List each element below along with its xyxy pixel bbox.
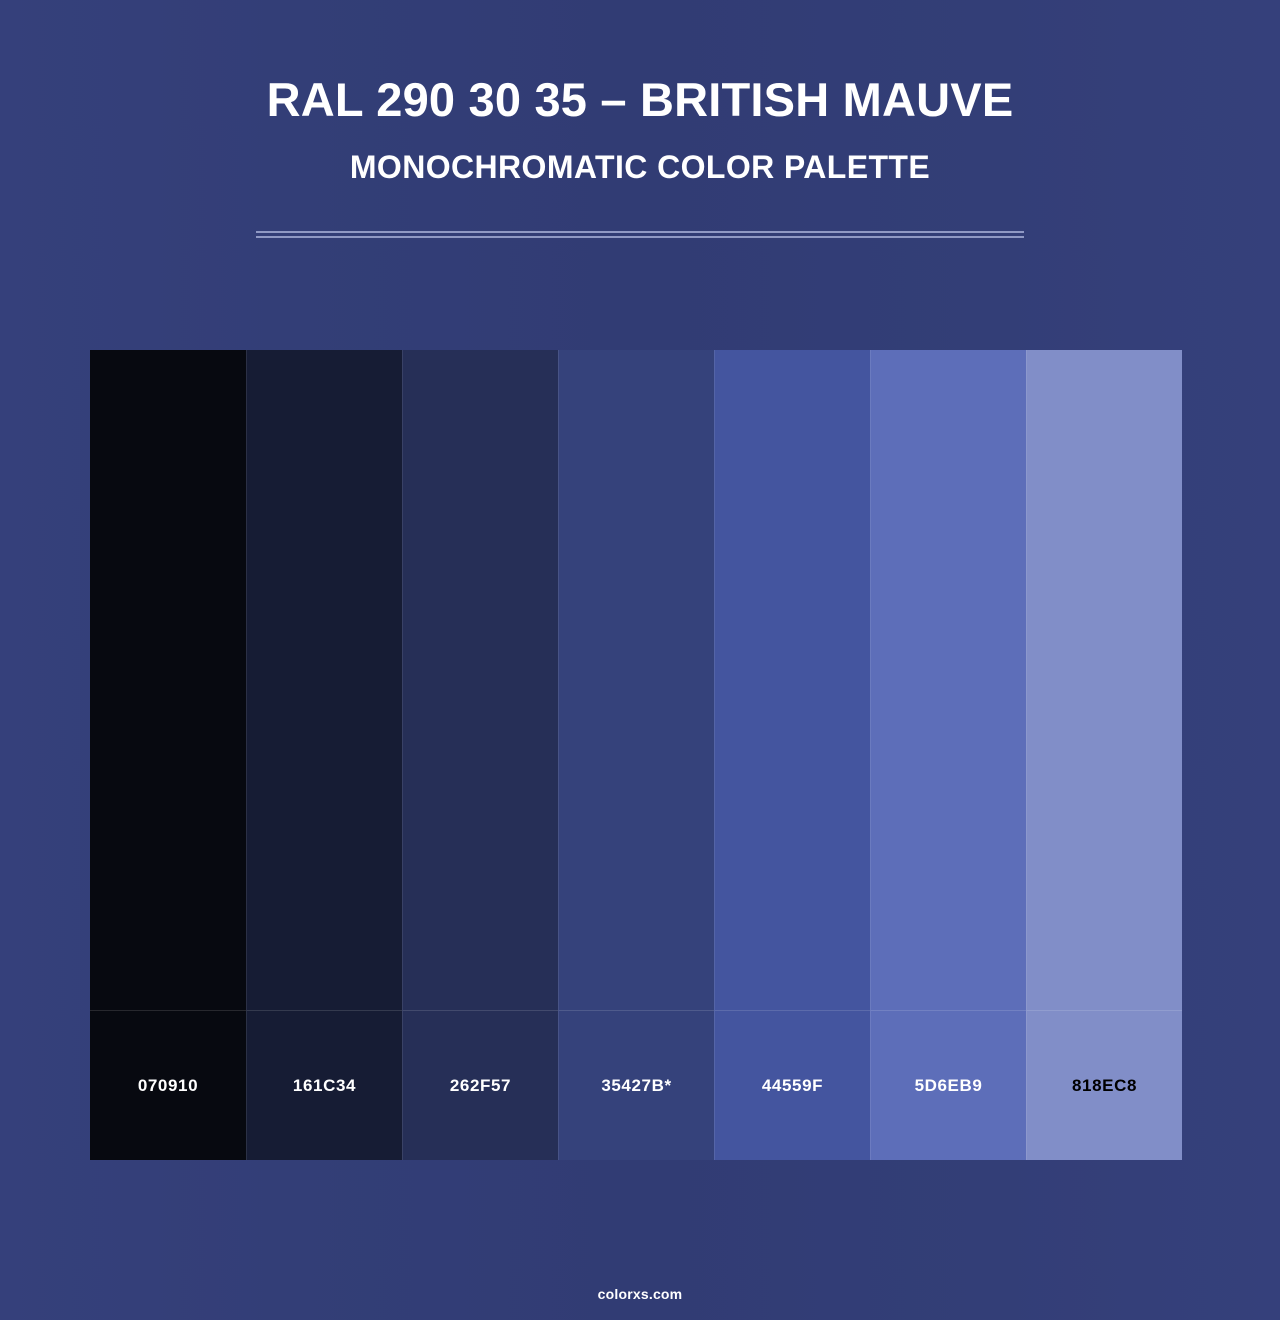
swatch-label-cell[interactable]: 5D6EB9 [870, 1010, 1026, 1160]
page-title: RAL 290 30 35 – BRITISH MAUVE [0, 72, 1280, 128]
swatch-hex-label: 070910 [138, 1076, 198, 1096]
color-swatch[interactable]: 5D6EB9 [870, 350, 1026, 1160]
swatch-hex-label: 818EC8 [1072, 1076, 1137, 1096]
swatch-label-cell[interactable]: 35427B* [558, 1010, 714, 1160]
color-swatch[interactable]: 161C34 [246, 350, 402, 1160]
swatch-label-cell[interactable]: 262F57 [402, 1010, 558, 1160]
swatch-color-block[interactable] [90, 350, 246, 1010]
palette-page: RAL 290 30 35 – BRITISH MAUVE MONOCHROMA… [0, 0, 1280, 1320]
swatch-label-cell[interactable]: 818EC8 [1026, 1010, 1182, 1160]
swatch-hex-label: 44559F [762, 1076, 823, 1096]
swatch-color-block[interactable] [870, 350, 1026, 1010]
swatch-color-block[interactable] [714, 350, 870, 1010]
swatch-label-cell[interactable]: 44559F [714, 1010, 870, 1160]
swatch-label-cell[interactable]: 161C34 [246, 1010, 402, 1160]
swatch-hex-label: 262F57 [450, 1076, 511, 1096]
swatch-color-block[interactable] [1026, 350, 1182, 1010]
footer: colorxs.com [0, 1286, 1280, 1304]
color-palette-grid: 070910 161C34 262F57 35427B* 44559F [90, 350, 1182, 1160]
site-brand[interactable]: colorxs.com [598, 1286, 683, 1302]
swatch-color-block[interactable] [558, 350, 714, 1010]
swatch-hex-label: 5D6EB9 [915, 1076, 983, 1096]
divider-rule-bottom [256, 236, 1024, 238]
swatch-color-block[interactable] [402, 350, 558, 1010]
swatch-hex-label: 35427B* [601, 1076, 671, 1096]
divider-rule-top [256, 231, 1024, 233]
header: RAL 290 30 35 – BRITISH MAUVE MONOCHROMA… [0, 0, 1280, 186]
color-swatch[interactable]: 818EC8 [1026, 350, 1182, 1160]
swatch-label-cell[interactable]: 070910 [90, 1010, 246, 1160]
color-swatch[interactable]: 262F57 [402, 350, 558, 1160]
swatch-color-block[interactable] [246, 350, 402, 1010]
title-divider [256, 231, 1024, 238]
color-swatch[interactable]: 070910 [90, 350, 246, 1160]
color-swatch-base[interactable]: 35427B* [558, 350, 714, 1160]
swatch-hex-label: 161C34 [293, 1076, 356, 1096]
page-subtitle: MONOCHROMATIC COLOR PALETTE [0, 148, 1280, 186]
color-swatch[interactable]: 44559F [714, 350, 870, 1160]
